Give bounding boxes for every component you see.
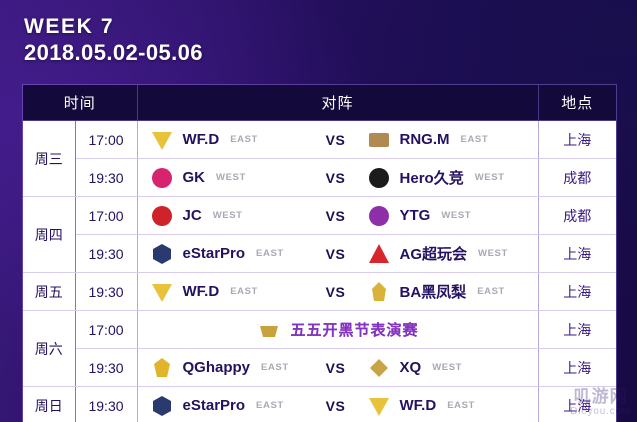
match-location: 上海 (538, 235, 616, 273)
header-time: 时间 (23, 85, 137, 121)
table-row: 周三17:00WF.DEASTVSRNG.MEAST上海 (23, 121, 616, 159)
conference-label: WEST (478, 248, 508, 259)
team-name: XQ (400, 359, 422, 376)
table-header-row: 时间 对阵 地点 (23, 85, 616, 121)
table-row: 19:30eStarProEASTVSAG超玩会WEST上海 (23, 235, 616, 273)
qghappy-logo (150, 356, 174, 380)
exhibition-match: 五五开黑节表演赛 (138, 311, 538, 348)
conference-label: EAST (256, 400, 284, 411)
table-row: 周四17:00JCWESTVSYTGWEST成都 (23, 197, 616, 235)
team-name: WF.D (183, 283, 220, 300)
schedule-table-body: 周三17:00WF.DEASTVSRNG.MEAST上海19:30GKWESTV… (23, 121, 616, 422)
match-location: 上海 (538, 121, 616, 159)
title-block: WEEK 7 2018.05.02-05.06 (24, 14, 203, 66)
match-time: 19:30 (75, 235, 137, 273)
team-right: YTGWEST (357, 204, 532, 228)
match-row: GKWESTVSHero久竞WEST (138, 159, 538, 196)
team-name: GK (183, 169, 206, 186)
conference-label: WEST (441, 210, 471, 221)
team-name: BA黑凤梨 (400, 281, 467, 302)
match-row: eStarProEASTVSWF.DEAST (138, 387, 538, 422)
conference-label: WEST (216, 172, 246, 183)
ytg-logo (367, 204, 391, 228)
conference-label: EAST (230, 134, 258, 145)
vs-label: VS (315, 360, 357, 376)
conference-label: WEST (213, 210, 243, 221)
team-left: eStarProEAST (144, 242, 315, 266)
team-left: JCWEST (144, 204, 315, 228)
exhibition-name: 五五开黑节表演赛 (291, 319, 419, 340)
day-label: 周三 (23, 121, 75, 197)
conference-label: WEST (475, 172, 505, 183)
team-left: QGhappyEAST (144, 356, 315, 380)
table-row: 周日19:30eStarProEASTVSWF.DEAST上海 (23, 387, 616, 422)
estar-logo (150, 242, 174, 266)
header-location: 地点 (538, 85, 616, 121)
team-right: BA黑凤梨EAST (357, 280, 532, 304)
vs-label: VS (315, 284, 357, 300)
conference-label: EAST (261, 362, 289, 373)
schedule-table: 时间 对阵 地点 周三17:00WF.DEASTVSRNG.MEAST上海19:… (23, 85, 616, 422)
match-location: 上海 (538, 311, 616, 349)
conference-label: WEST (432, 362, 462, 373)
vs-label: VS (315, 246, 357, 262)
team-name: YTG (400, 207, 431, 224)
rngm-logo (367, 128, 391, 152)
matchup-cell: eStarProEASTVSWF.DEAST (137, 387, 538, 422)
vs-label: VS (315, 132, 357, 148)
conference-label: EAST (477, 286, 505, 297)
day-label: 周五 (23, 273, 75, 311)
matchup-cell: WF.DEASTVSRNG.MEAST (137, 121, 538, 159)
jc-logo (150, 204, 174, 228)
wuwu-festival-logo (257, 318, 281, 342)
day-label: 周日 (23, 387, 75, 422)
team-right: WF.DEAST (357, 394, 532, 418)
match-row: WF.DEASTVSRNG.MEAST (138, 121, 538, 158)
matchup-cell: WF.DEASTVSBA黑凤梨EAST (137, 273, 538, 311)
table-row: 19:30GKWESTVSHero久竞WEST成都 (23, 159, 616, 197)
day-label: 周六 (23, 311, 75, 387)
team-right: RNG.MEAST (357, 128, 532, 152)
conference-label: EAST (230, 286, 258, 297)
conference-label: EAST (461, 134, 489, 145)
hero-logo (367, 166, 391, 190)
team-name: WF.D (183, 131, 220, 148)
matchup-cell: QGhappyEASTVSXQWEST (137, 349, 538, 387)
team-name: Hero久竞 (400, 167, 464, 188)
team-name: RNG.M (400, 131, 450, 148)
vs-label: VS (315, 170, 357, 186)
team-name: WF.D (400, 397, 437, 414)
match-time: 17:00 (75, 121, 137, 159)
team-name: QGhappy (183, 359, 251, 376)
team-name: AG超玩会 (400, 243, 468, 264)
team-right: AG超玩会WEST (357, 242, 532, 266)
match-time: 19:30 (75, 273, 137, 311)
team-name: eStarPro (183, 397, 246, 414)
wfd-logo (150, 128, 174, 152)
match-location: 成都 (538, 159, 616, 197)
wfd-logo (367, 394, 391, 418)
date-range-label: 2018.05.02-05.06 (24, 39, 203, 66)
match-time: 19:30 (75, 387, 137, 422)
matchup-cell: eStarProEASTVSAG超玩会WEST (137, 235, 538, 273)
match-row: QGhappyEASTVSXQWEST (138, 349, 538, 386)
table-row: 周六17:00五五开黑节表演赛上海 (23, 311, 616, 349)
schedule-poster: WEEK 7 2018.05.02-05.06 时间 对阵 地点 周三17:00… (0, 0, 637, 422)
team-name: eStarPro (183, 245, 246, 262)
ba-logo (367, 280, 391, 304)
table-row: 周五19:30WF.DEASTVSBA黑凤梨EAST上海 (23, 273, 616, 311)
team-left: GKWEST (144, 166, 315, 190)
ag-logo (367, 242, 391, 266)
team-left: WF.DEAST (144, 280, 315, 304)
match-row: WF.DEASTVSBA黑凤梨EAST (138, 273, 538, 310)
conference-label: EAST (447, 400, 475, 411)
match-row: eStarProEASTVSAG超玩会WEST (138, 235, 538, 272)
matchup-cell: GKWESTVSHero久竞WEST (137, 159, 538, 197)
table-row: 19:30QGhappyEASTVSXQWEST上海 (23, 349, 616, 387)
estar-logo (150, 394, 174, 418)
team-right: Hero久竞WEST (357, 166, 532, 190)
match-time: 19:30 (75, 349, 137, 387)
xq-logo (367, 356, 391, 380)
gk-logo (150, 166, 174, 190)
team-right: XQWEST (357, 356, 532, 380)
team-left: WF.DEAST (144, 128, 315, 152)
week-label: WEEK 7 (24, 14, 203, 39)
match-time: 17:00 (75, 311, 137, 349)
match-location: 上海 (538, 349, 616, 387)
header-matchup: 对阵 (137, 85, 538, 121)
match-location: 上海 (538, 273, 616, 311)
day-label: 周四 (23, 197, 75, 273)
match-row: JCWESTVSYTGWEST (138, 197, 538, 234)
match-location: 成都 (538, 197, 616, 235)
wfd-logo (150, 280, 174, 304)
match-location: 上海 (538, 387, 616, 422)
match-time: 19:30 (75, 159, 137, 197)
conference-label: EAST (256, 248, 284, 259)
team-name: JC (183, 207, 202, 224)
vs-label: VS (315, 208, 357, 224)
matchup-cell: 五五开黑节表演赛 (137, 311, 538, 349)
matchup-cell: JCWESTVSYTGWEST (137, 197, 538, 235)
team-left: eStarProEAST (144, 394, 315, 418)
match-time: 17:00 (75, 197, 137, 235)
vs-label: VS (315, 398, 357, 414)
